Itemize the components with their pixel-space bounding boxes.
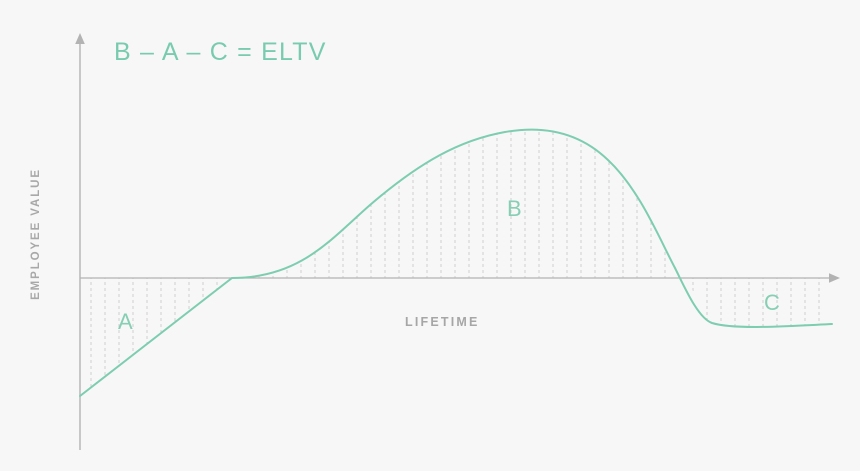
region-b-label: B [507, 196, 522, 222]
chart-canvas: B – A – C = ELTV EMPLOYEE VALUE LIFETIME… [0, 0, 860, 471]
x-axis-label: LIFETIME [405, 315, 480, 329]
region-a-label: A [118, 309, 133, 335]
region-c-shading [686, 278, 832, 326]
y-axis-label: EMPLOYEE VALUE [30, 134, 42, 334]
formula-label: B – A – C = ELTV [114, 38, 327, 67]
eltv-chart-svg [0, 0, 860, 471]
region-b-shading [232, 130, 686, 278]
region-c-label: C [764, 290, 780, 316]
